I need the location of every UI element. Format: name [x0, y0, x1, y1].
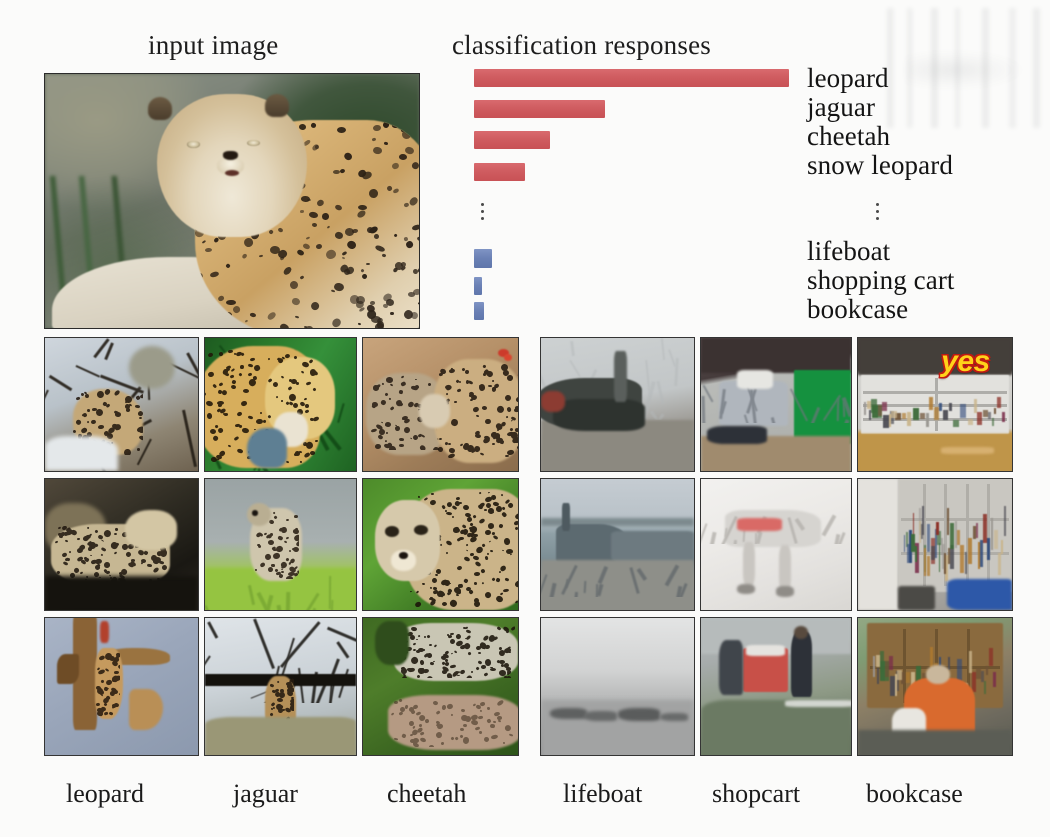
bars-break-ellipsis-icon: [481, 203, 484, 224]
background-watermark-artifact: [880, 8, 1050, 128]
class-caption-leopard: leopard: [66, 779, 144, 809]
retrieved-thumbnail: [44, 337, 199, 472]
retrieved-thumbnail: [204, 337, 357, 472]
bar-label-cheetah: cheetah: [807, 121, 890, 152]
retrieved-thumbnail: [44, 617, 199, 756]
input-image-title: input image: [148, 30, 278, 61]
bar-snow-leopard: [474, 163, 525, 181]
retrieved-thumbnail: yes: [857, 337, 1013, 472]
class-caption-jaguar: jaguar: [233, 779, 298, 809]
bar-label-jaguar: jaguar: [807, 92, 875, 123]
class-caption-lifeboat: lifeboat: [563, 779, 642, 809]
class-caption-bookcase: bookcase: [866, 779, 963, 809]
input-image-photo: [44, 73, 420, 329]
retrieved-thumbnail: [362, 478, 519, 611]
retrieved-images-grid-animals: [44, 337, 522, 762]
retrieved-thumbnail: [362, 617, 519, 756]
retrieved-thumbnail: [540, 617, 695, 756]
background-watermark-artifact-secondary: [905, 50, 1025, 90]
bar-label-lifeboat: lifeboat: [807, 236, 890, 267]
bar-bookcase: [474, 302, 484, 320]
labels-break-ellipsis-icon: [876, 203, 879, 224]
class-caption-cheetah: cheetah: [387, 779, 466, 809]
retrieved-thumbnail: [857, 478, 1013, 611]
retrieved-thumbnail: [700, 478, 852, 611]
retrieved-thumbnail: [362, 337, 519, 472]
bar-label-leopard: leopard: [807, 63, 889, 94]
retrieved-thumbnail: [700, 337, 852, 472]
bar-label-snow-leopard: snow leopard: [807, 150, 953, 181]
bar-label-shopping-cart: shopping cart: [807, 265, 955, 296]
bar-shopping-cart: [474, 277, 482, 295]
class-caption-shopcart: shopcart: [712, 779, 800, 809]
retrieved-images-grid-objects: yes: [540, 337, 1015, 762]
retrieved-thumbnail: [700, 617, 852, 756]
retrieved-thumbnail: [857, 617, 1013, 756]
retrieved-thumbnail: [44, 478, 199, 611]
bar-jaguar: [474, 100, 605, 118]
retrieved-thumbnail: [204, 617, 357, 756]
classification-responses-title: classification responses: [452, 30, 711, 61]
bar-lifeboat: [474, 249, 492, 268]
bar-label-bookcase: bookcase: [807, 294, 908, 325]
retrieved-thumbnail: [204, 478, 357, 611]
retrieved-thumbnail: [540, 478, 695, 611]
bar-cheetah: [474, 131, 550, 149]
bar-leopard: [474, 69, 789, 87]
retrieved-thumbnail: [540, 337, 695, 472]
yes-text-overlay: yes: [941, 345, 990, 379]
